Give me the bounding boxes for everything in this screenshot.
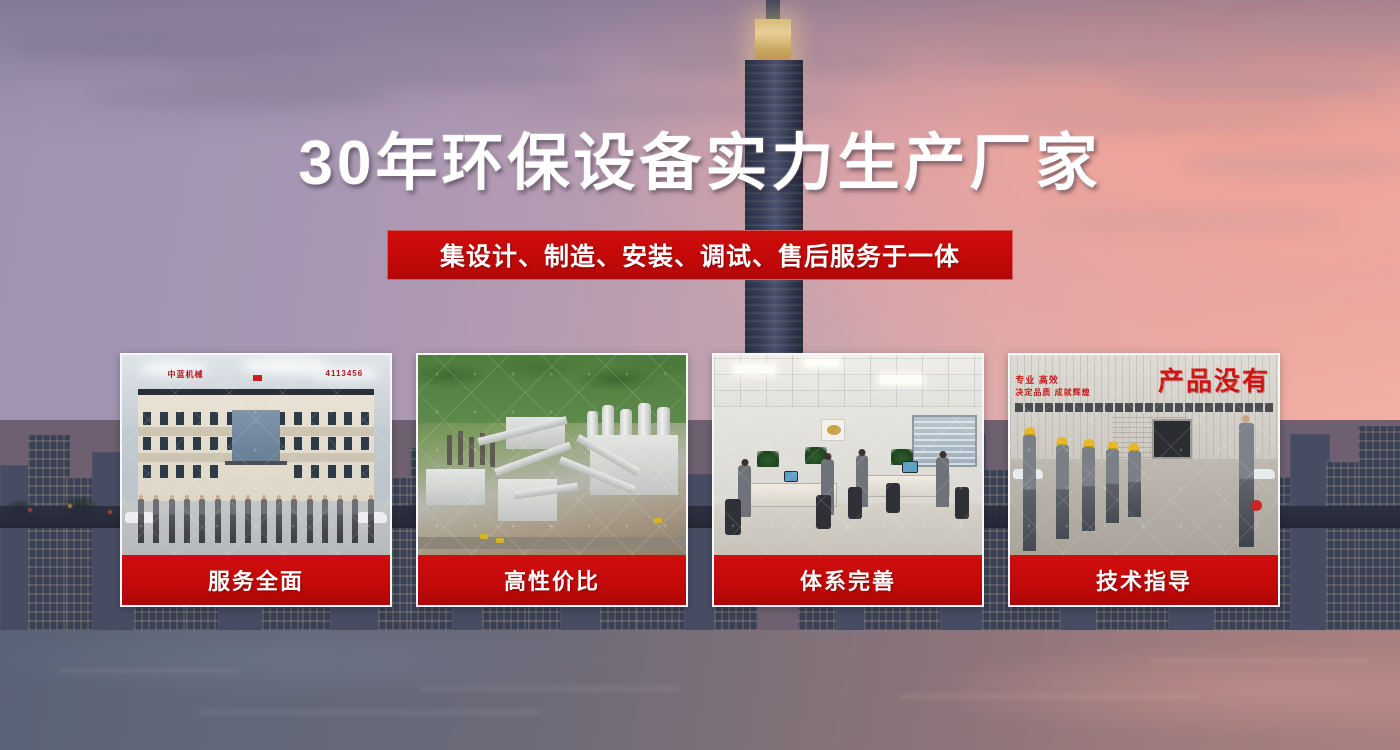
water-reflection [1150,659,1370,662]
plant-warehouse [426,469,485,505]
water-haze [0,630,1400,750]
excavator-vehicle [654,518,662,523]
ceiling-light-panel [805,359,839,366]
building-entrance-portico [225,461,286,478]
factory-worker [1128,451,1141,517]
factory-side-door [1152,419,1192,459]
factory-worker [1056,445,1069,539]
subtitle-banner: 集设计、制造、安装、调试、售后服务于一体 [387,230,1013,280]
office-ceiling [714,355,982,407]
office-chair [886,483,900,513]
factory-slogan-line-2: 决定品质 成就辉煌 [1015,387,1090,398]
technical-instructor [1239,423,1254,547]
office-interior-scene [714,355,982,555]
excavator-vehicle [480,534,488,539]
card-label: 高性价比 [418,555,686,605]
office-building [138,389,374,501]
red-helmet [1251,500,1262,511]
card-label: 技术指导 [1010,555,1278,605]
tower-neck [766,0,780,19]
feature-card[interactable]: 中蓝机械 4113456 服务全面 [120,353,392,607]
process-column [490,439,495,467]
factory-slogan-line-1: 专业 高效 [1015,373,1059,386]
water-reflection [60,669,240,672]
process-column [447,435,452,465]
plant-access-road [418,537,686,549]
factory-window-band [1015,403,1272,412]
factory-worker [1082,447,1095,531]
monitor-screen [902,461,918,473]
aerial-plant-photo [418,355,686,555]
office-chair [725,499,741,535]
card-label: 体系完善 [714,555,982,605]
feature-card[interactable]: 体系完善 [712,353,984,607]
laptop-screen [784,471,798,482]
wall-poster [821,419,845,441]
office-chair [816,495,831,529]
factory-slogan-headline: 产品没有 [1158,361,1270,398]
office-chair [955,487,969,519]
process-column [469,437,474,467]
page-title: 30年环保设备实力生产厂家 [0,133,1400,195]
national-flag [253,375,262,381]
building-company-signage: 中蓝机械 [168,369,204,380]
card-label: 服务全面 [122,555,390,605]
ceiling-light-panel [735,365,775,374]
office-worker [936,457,949,507]
factory-worker [1106,449,1119,523]
water-reflection [900,695,1200,698]
staff-line-up [138,499,374,543]
river-water [0,630,1400,750]
company-headquarters-photo: 中蓝机械 4113456 [122,355,390,555]
building-shape [28,435,70,640]
promotional-hero-banner: 30年环保设备实力生产厂家 集设计、制造、安装、调试、售后服务于一体 [0,0,1400,750]
building-shape [1358,426,1400,640]
excavator-vehicle [496,538,504,543]
factory-worker [1023,435,1036,551]
building-phone-signage: 4113456 [326,369,364,378]
industrial-plant-scene [418,355,686,555]
feature-card[interactable]: 高性价比 [416,353,688,607]
feature-card[interactable]: 产品没有 专业 高效 决定品质 成就辉煌 [1008,353,1280,607]
water-reflection [200,711,540,714]
building-shape [1290,434,1330,640]
plant-warehouse [498,479,557,521]
office-chair [848,487,862,519]
subtitle-banner-wrap: 集设计、制造、安装、调试、售后服务于一体 [0,230,1400,280]
feature-card-row: 中蓝机械 4113456 服务全面 [120,353,1280,607]
factory-workers-photo: 产品没有 专业 高效 决定品质 成就辉煌 [1010,355,1278,555]
factory-yard-scene: 产品没有 专业 高效 决定品质 成就辉煌 [1010,355,1278,555]
potted-plant [757,451,779,467]
factory-yard-ground [1010,459,1278,555]
office-interior-photo [714,355,982,555]
water-reflection [420,687,680,690]
headquarters-scene: 中蓝机械 4113456 [122,355,390,555]
process-column [458,431,463,465]
building-shape [1326,462,1362,640]
ceiling-light-panel [880,375,922,384]
